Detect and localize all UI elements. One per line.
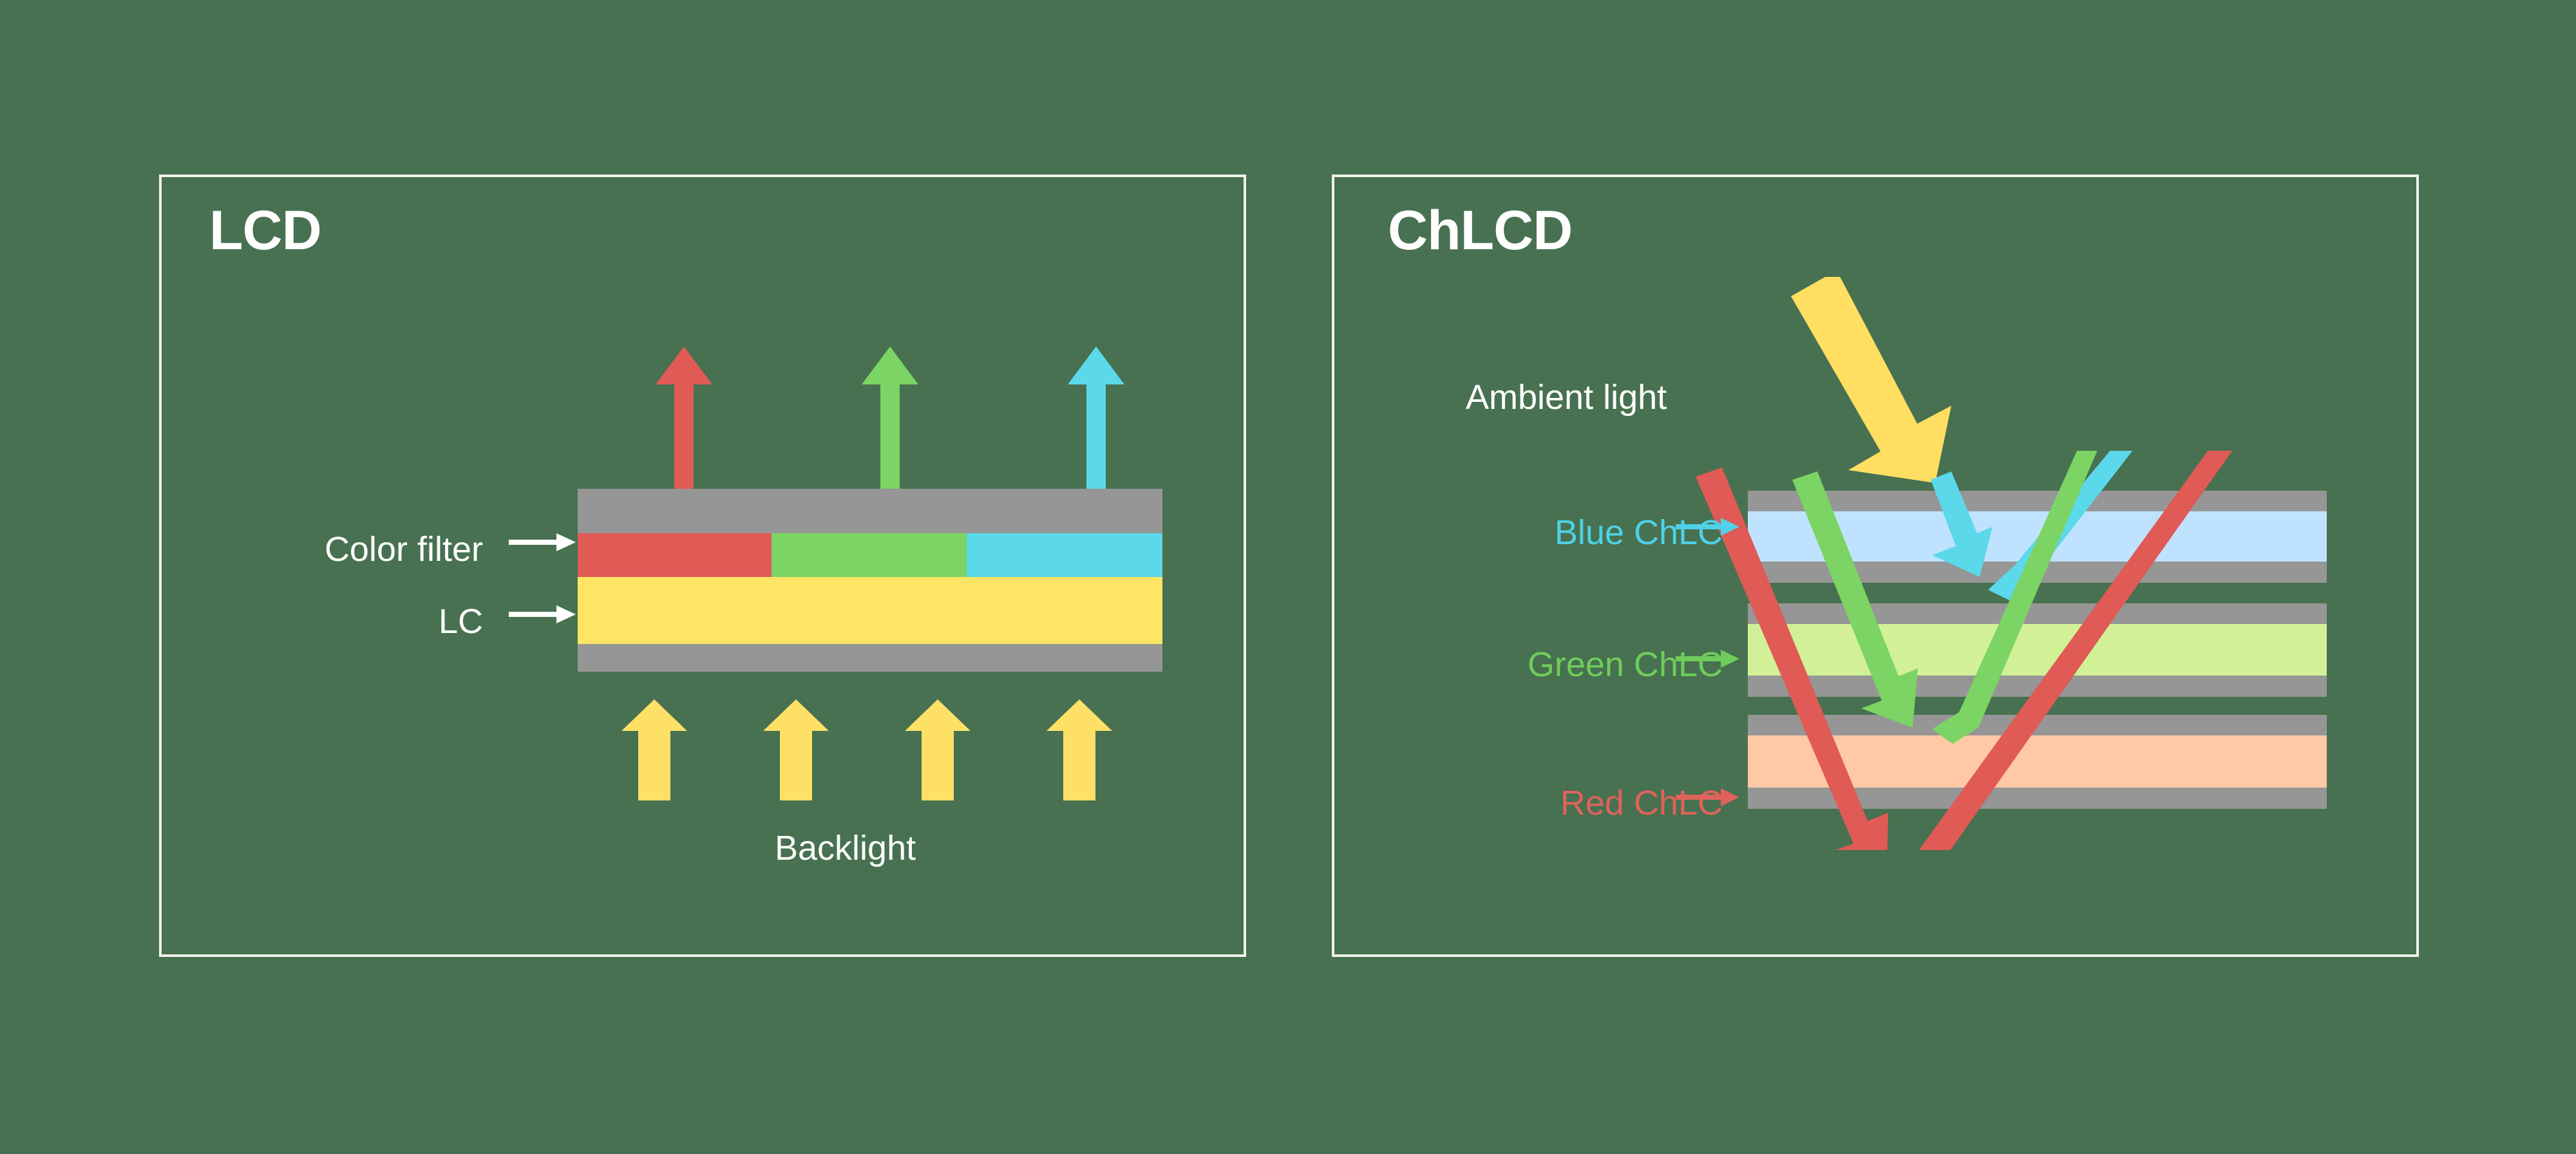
blue-incoming-arrow bbox=[1931, 471, 1993, 577]
backlight-arrow-4 bbox=[1046, 699, 1112, 800]
lcd-layer-stack bbox=[578, 489, 1162, 672]
lcd-color-filter-row bbox=[578, 533, 1162, 577]
blue-chlc-leader-arrow-icon bbox=[1676, 514, 1740, 540]
panel-title-chlcd: ChLCD bbox=[1388, 203, 1572, 258]
label-blue-chlc: Blue ChLC bbox=[1372, 515, 1723, 550]
color-filter-blue-segment bbox=[967, 533, 1162, 577]
lc-leader-arrow-icon bbox=[509, 601, 576, 627]
blue-emission-arrow bbox=[1068, 346, 1124, 493]
backlight-arrow-3 bbox=[905, 699, 971, 800]
green-chlc-leader-arrow-icon bbox=[1676, 646, 1740, 672]
red-emission-arrow bbox=[656, 346, 712, 493]
lcd-liquid-crystal-layer bbox=[578, 577, 1162, 644]
label-lc: LC bbox=[264, 604, 483, 639]
label-red-chlc: Red ChLC bbox=[1372, 786, 1723, 820]
color-filter-green-segment bbox=[772, 533, 967, 577]
diagram-canvas: LCD Color filter LC bbox=[0, 0, 2576, 1154]
lcd-glass-bottom-layer bbox=[578, 644, 1162, 672]
label-color-filter: Color filter bbox=[264, 532, 483, 567]
red-chlc-leader-arrow-icon bbox=[1676, 784, 1740, 810]
green-emission-arrow bbox=[862, 346, 918, 493]
backlight-arrows bbox=[621, 697, 1130, 800]
label-green-chlc: Green ChLC bbox=[1359, 647, 1723, 682]
lcd-glass-top-layer bbox=[578, 489, 1162, 533]
color-filter-leader-arrow-icon bbox=[509, 529, 576, 555]
label-backlight: Backlight bbox=[775, 831, 916, 865]
label-ambient-light: Ambient light bbox=[1466, 380, 1667, 415]
backlight-arrow-2 bbox=[763, 699, 829, 800]
backlight-arrow-1 bbox=[621, 699, 687, 800]
chlcd-ray-arrows bbox=[1674, 451, 2421, 850]
lcd-emission-arrows bbox=[650, 345, 1140, 493]
panel-title-lcd: LCD bbox=[209, 203, 321, 258]
color-filter-red-segment bbox=[578, 533, 772, 577]
